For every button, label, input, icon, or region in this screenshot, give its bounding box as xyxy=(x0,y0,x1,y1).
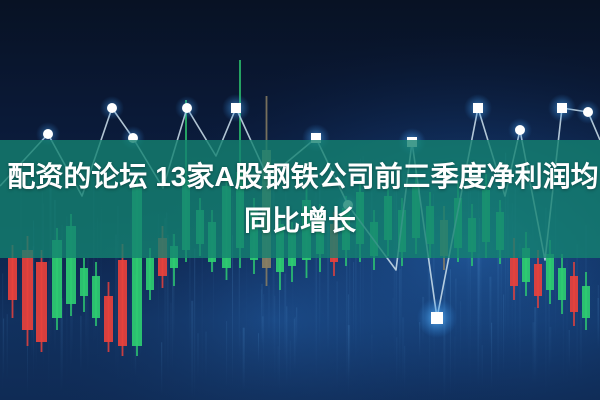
headline-line-1: 配资的论坛 13家A股钢铁公司前三季度净利润均 xyxy=(1,157,598,197)
headline-text: 配资的论坛 13家A股钢铁公司前三季度净利润均 同比增长 xyxy=(0,140,600,258)
headline-line-2: 同比增长 xyxy=(244,201,356,241)
news-banner-image: 配资的论坛 13家A股钢铁公司前三季度净利润均 同比增长 xyxy=(0,0,600,400)
